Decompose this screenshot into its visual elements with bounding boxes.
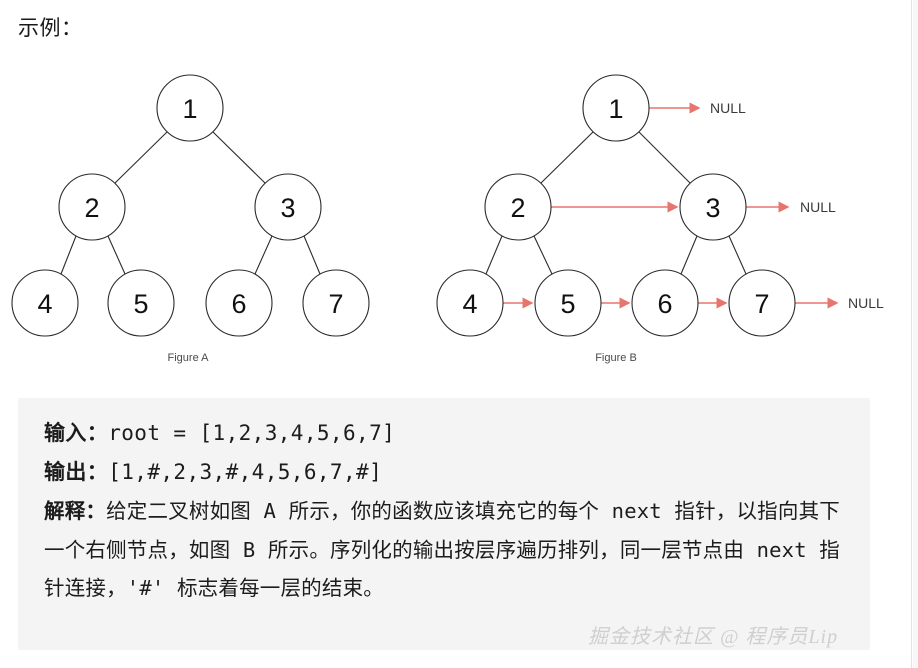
edge-1-2: [541, 132, 593, 183]
tree-node-b7-label: 7: [754, 289, 769, 319]
edge-2-5: [534, 236, 552, 274]
watermark: 掘金技术社区 @ 程序员Lip: [588, 624, 838, 650]
edge-2-5: [108, 236, 125, 274]
tree-node-b4-label: 4: [462, 289, 477, 319]
edge-1-2: [115, 132, 167, 183]
edge-3-7: [304, 236, 320, 274]
edge-3-6: [681, 236, 697, 274]
edge-1-3: [639, 132, 690, 183]
tree-node-a2-label: 2: [84, 193, 99, 223]
figures-container: 1 2 3 4 5 6 7 Figure A: [0, 56, 918, 378]
tree-node-a5-label: 5: [133, 289, 148, 319]
null-label-level1: NULL: [710, 100, 746, 116]
example-explanation-label: 解释：: [44, 500, 106, 523]
figure-b-caption: Figure B: [595, 352, 637, 364]
example-output-value: [1,#,2,3,#,4,5,6,7,#]: [108, 460, 382, 484]
tree-node-b5-label: 5: [560, 289, 575, 319]
tree-node-a4-label: 4: [37, 289, 52, 319]
edge-2-4: [486, 236, 502, 274]
edge-3-6: [255, 236, 272, 274]
page-root: 示例： 1 2 3 4 5: [0, 0, 918, 668]
figure-a: 1 2 3 4 5 6 7 Figure A: [0, 56, 420, 378]
edge-3-7: [729, 236, 746, 274]
tree-node-a7-label: 7: [328, 289, 343, 319]
example-input-line: 输入：root = [1,2,3,4,5,6,7]: [44, 414, 844, 453]
edge-2-4: [61, 236, 76, 274]
figure-a-nodes: 1 2 3 4 5 6 7: [12, 75, 369, 336]
example-output-label: 输出：: [44, 461, 108, 484]
example-input-value: root = [1,2,3,4,5,6,7]: [108, 421, 395, 445]
edge-1-3: [213, 132, 265, 183]
tree-node-b2-label: 2: [510, 193, 525, 223]
null-label-level2: NULL: [800, 199, 836, 215]
tree-node-a6-label: 6: [231, 289, 246, 319]
example-explanation-line: 解释：给定二叉树如图 A 所示，你的函数应该填充它的每个 next 指针，以指向…: [44, 492, 844, 607]
tree-node-a1-label: 1: [182, 94, 197, 124]
tree-node-b6-label: 6: [657, 289, 672, 319]
example-output-line: 输出：[1,#,2,3,#,4,5,6,7,#]: [44, 453, 844, 492]
figure-b: 1 2 3 4 5 6 7 NULL NULL NULL Figure B: [420, 56, 918, 378]
null-label-level3: NULL: [848, 295, 884, 311]
example-input-label: 输入：: [44, 422, 108, 445]
example-block: 输入：root = [1,2,3,4,5,6,7] 输出：[1,#,2,3,#,…: [18, 398, 870, 650]
tree-node-a3-label: 3: [280, 193, 295, 223]
example-explanation-value: 给定二叉树如图 A 所示，你的函数应该填充它的每个 next 指针，以指向其下一…: [44, 499, 840, 600]
tree-node-b3-label: 3: [705, 193, 720, 223]
page-title: 示例：: [18, 14, 83, 44]
tree-node-b1-label: 1: [608, 94, 623, 124]
figure-a-caption: Figure A: [168, 352, 210, 364]
